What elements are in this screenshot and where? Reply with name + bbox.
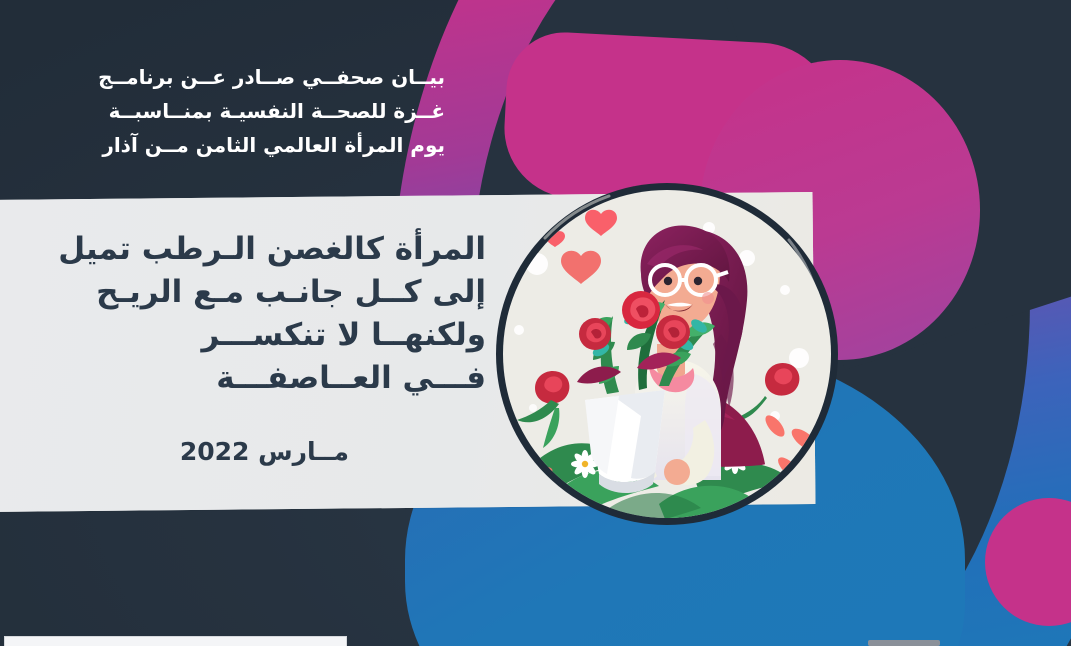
- header-line-1: بيــان صحفــي صــادر عــن برنامــج: [85, 60, 445, 94]
- poster-canvas: بيــان صحفــي صــادر عــن برنامــج غــزة…: [0, 0, 1071, 646]
- headline-line-2: إلى كــل جانـب مـع الريـح: [66, 271, 486, 314]
- woman-with-flowers-illustration: [489, 168, 849, 540]
- headline-line-3: ولكنهــا لا تنكســـر: [66, 314, 486, 357]
- header-line-3: يوم المرأة العالمي الثامن مــن آذار: [85, 128, 445, 162]
- header-line-2: غــزة للصحــة النفسيـة بمنــاسبــة: [85, 94, 445, 128]
- headline-line-4: فـــي العــاصفـــة: [66, 357, 486, 400]
- headline-line-1: المرأة كالغصن الـرطب تميل: [66, 228, 486, 271]
- bottom-scrollbar-strip[interactable]: [4, 636, 347, 646]
- press-release-header: بيــان صحفــي صــادر عــن برنامــج غــزة…: [85, 60, 445, 162]
- bottom-scrollbar-thumb[interactable]: [868, 640, 940, 646]
- page-title: المرأة كالغصن الـرطب تميل إلى كــل جانـب…: [66, 228, 486, 400]
- publication-date: مــارس 2022: [180, 437, 349, 466]
